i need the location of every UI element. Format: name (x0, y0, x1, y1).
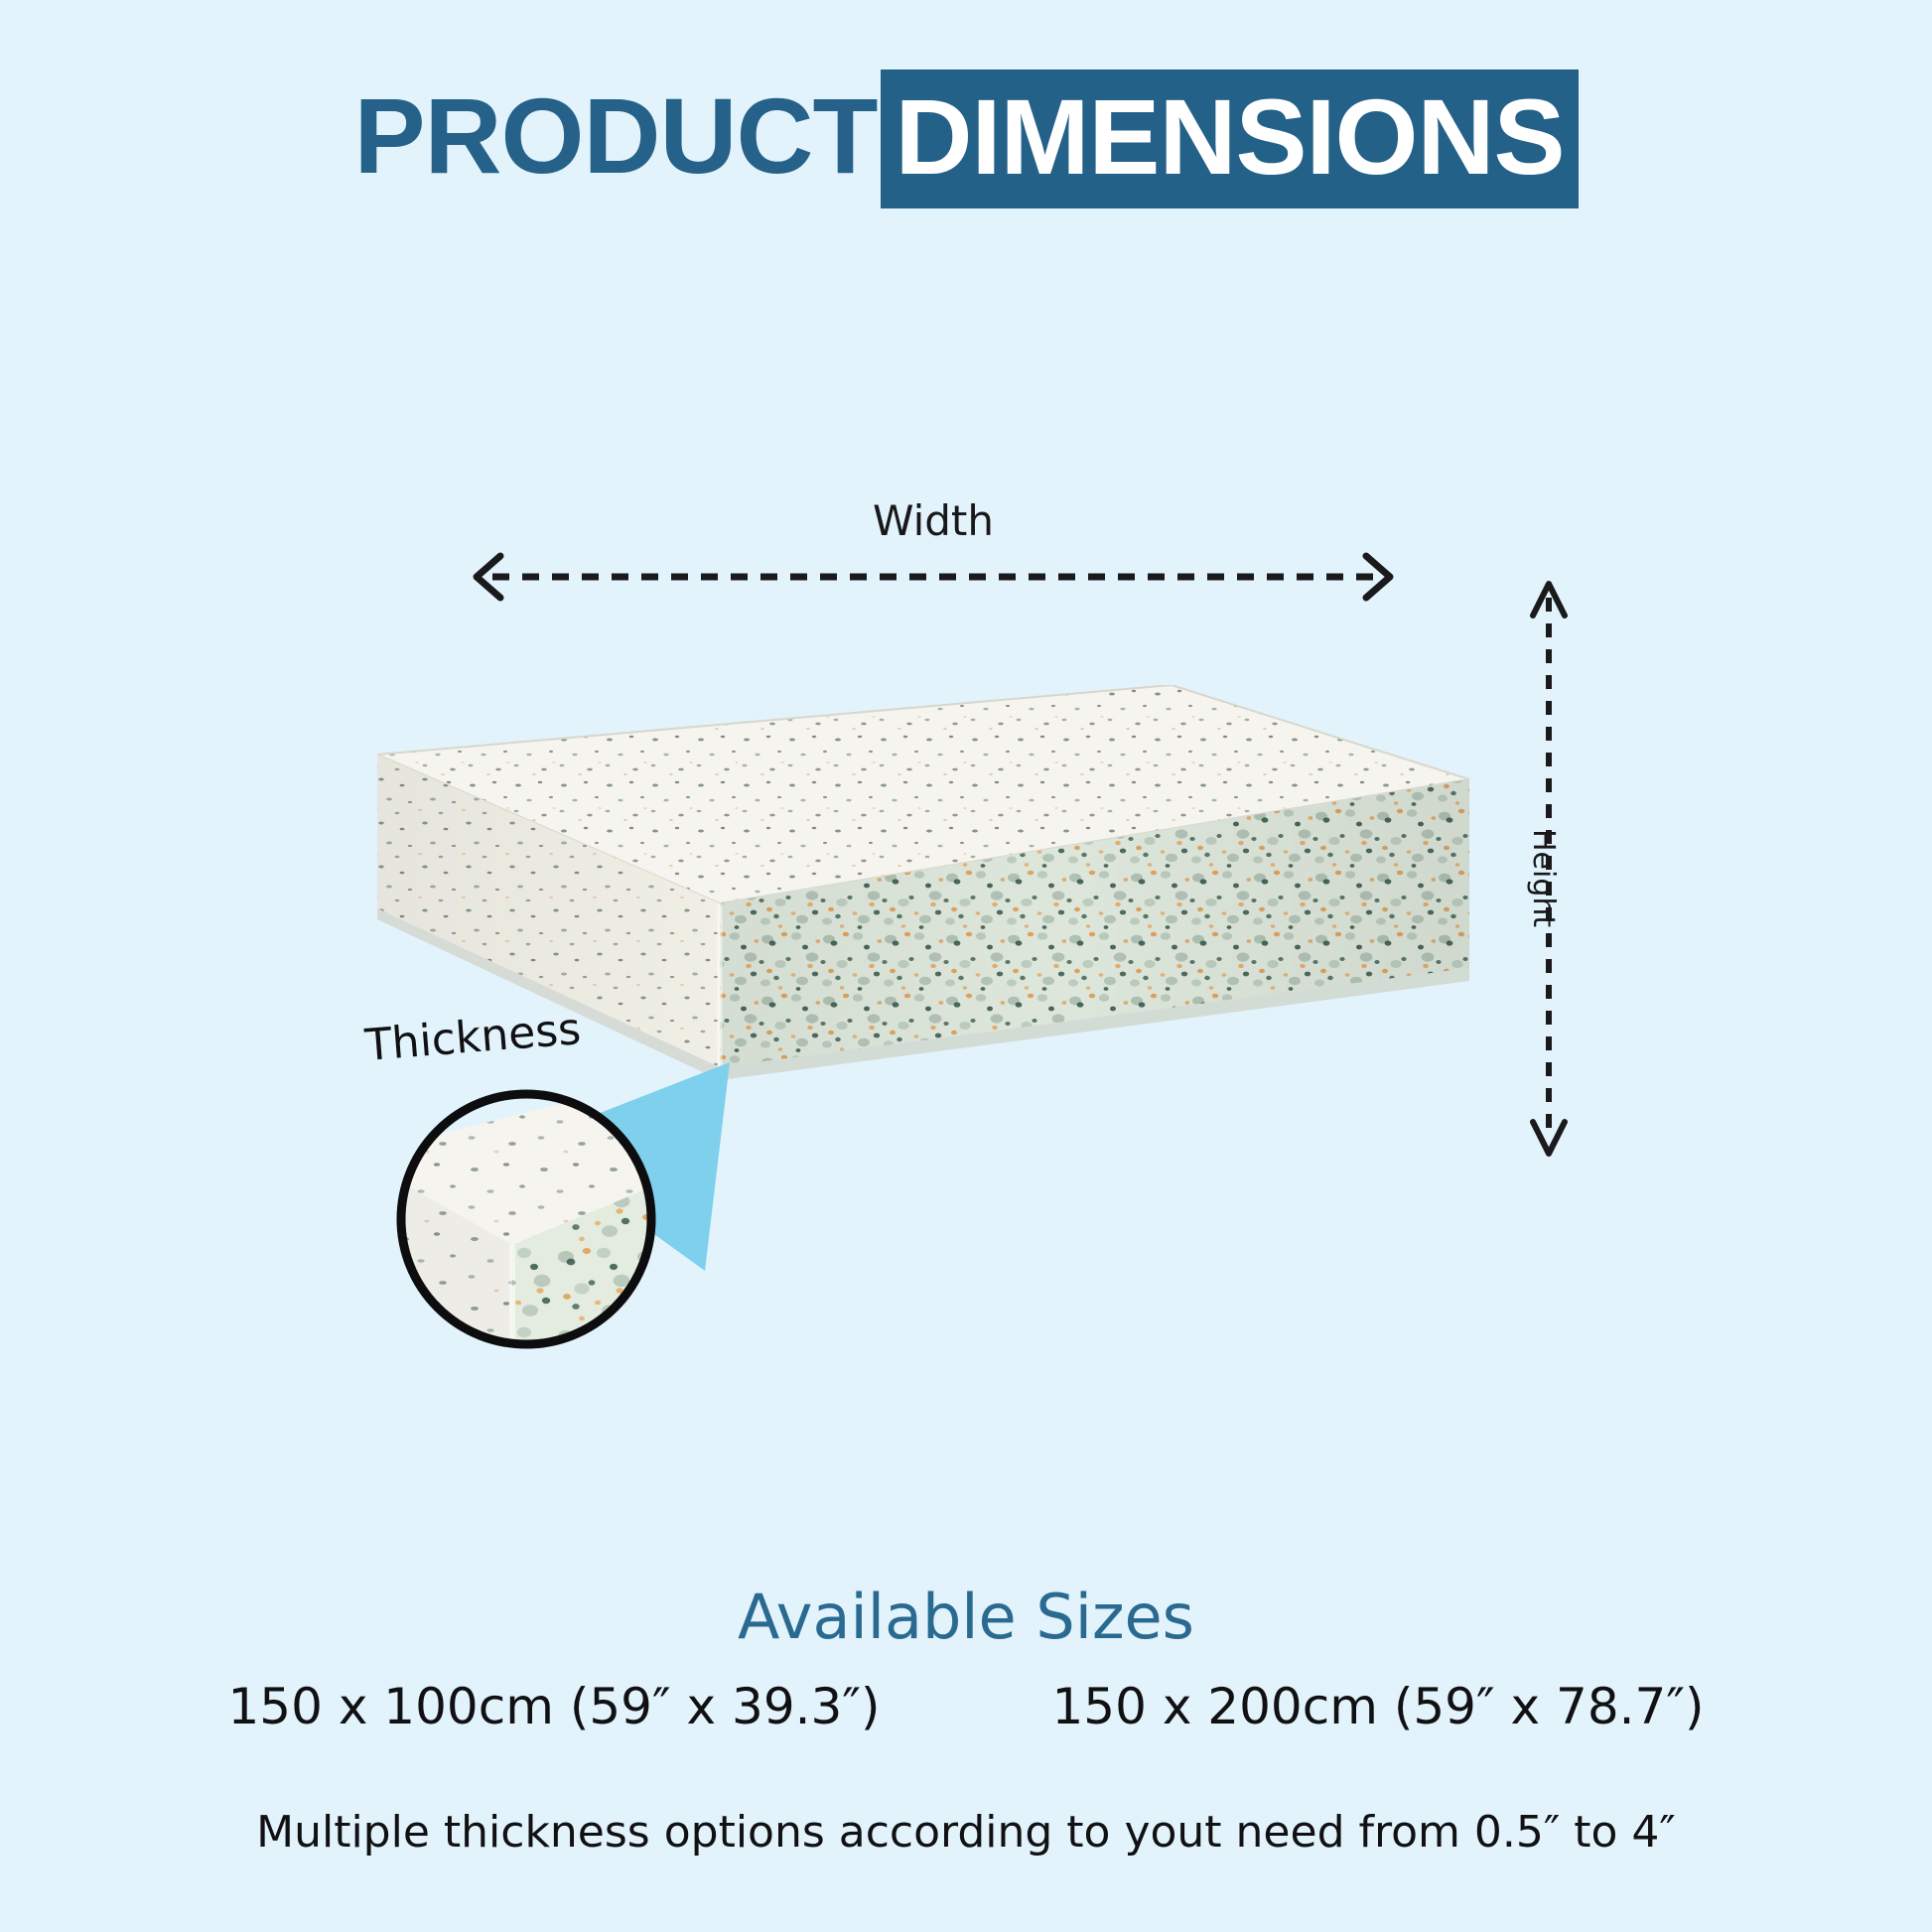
width-dimension: Width (467, 496, 1400, 606)
size-option-2: 150 x 200cm (59″ x 78.7″) (966, 1678, 1790, 1735)
height-dimension: Height (1519, 576, 1668, 1162)
title-word-dimensions: DIMENSIONS (881, 69, 1578, 208)
title-word-product: PRODUCT (353, 82, 877, 196)
size-option-1: 150 x 100cm (59″ x 39.3″) (142, 1678, 966, 1735)
height-label: Height (1526, 829, 1561, 927)
width-label: Width (467, 496, 1400, 545)
infographic-canvas: PRODUCTDIMENSIONS Width Height (0, 0, 1932, 1932)
magnifier-icon (393, 1086, 659, 1352)
available-sizes-list: 150 x 100cm (59″ x 39.3″) 150 x 200cm (5… (0, 1678, 1932, 1735)
thickness-options-note: Multiple thickness options according to … (0, 1807, 1932, 1858)
page-title: PRODUCTDIMENSIONS (0, 69, 1932, 208)
thickness-magnifier (393, 1086, 659, 1352)
width-arrow-icon (467, 548, 1400, 606)
available-sizes-heading: Available Sizes (0, 1581, 1932, 1653)
